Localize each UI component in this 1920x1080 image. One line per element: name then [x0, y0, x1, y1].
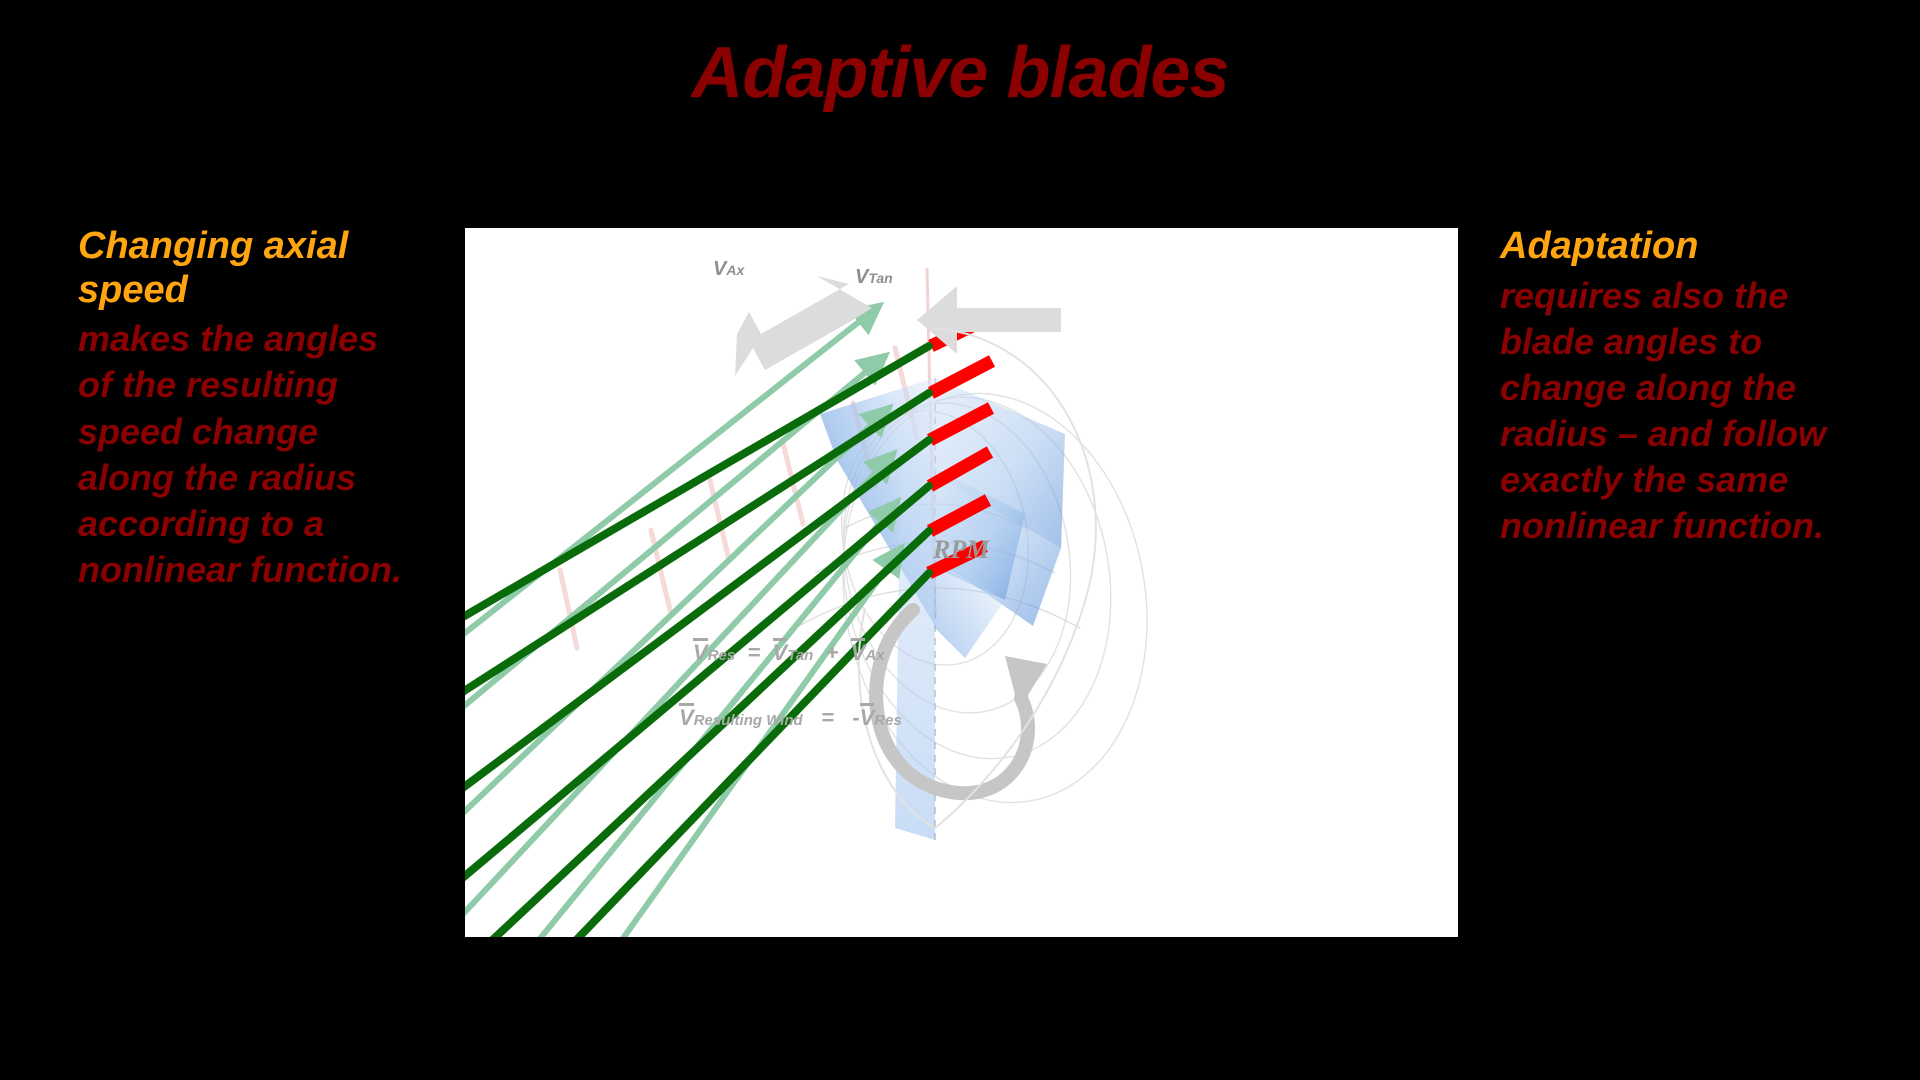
- left-text-block: Changing axial speed makes the angles of…: [78, 225, 408, 593]
- left-text-lead: Changing axial speed: [78, 225, 408, 312]
- formula-line-2: VResulting Wind = -VRes: [679, 703, 902, 731]
- page-title: Adaptive blades: [0, 32, 1920, 114]
- slide-root: Adaptive blades Changing axial speed mak…: [0, 0, 1920, 1080]
- rpm-label: RPM: [933, 535, 989, 565]
- diagram-panel: VAx VTan RPM VRes = VTan + VAx VResultin…: [465, 228, 1458, 937]
- left-text-body: makes the angles of the resulting speed …: [78, 316, 408, 592]
- right-text-body: requires also the blade angles to change…: [1500, 273, 1830, 549]
- right-text-block: Adaptation requires also the blade angle…: [1500, 225, 1830, 549]
- right-text-lead: Adaptation: [1500, 225, 1830, 269]
- blade-segment-2: [931, 361, 992, 393]
- turbine-vector-diagram: [465, 228, 1458, 937]
- v-tan-label: VTan: [855, 266, 893, 289]
- formula-line-1: VRes = VTan + VAx: [693, 638, 885, 666]
- v-ax-label: VAx: [713, 258, 744, 281]
- wind-line-6: [465, 573, 929, 937]
